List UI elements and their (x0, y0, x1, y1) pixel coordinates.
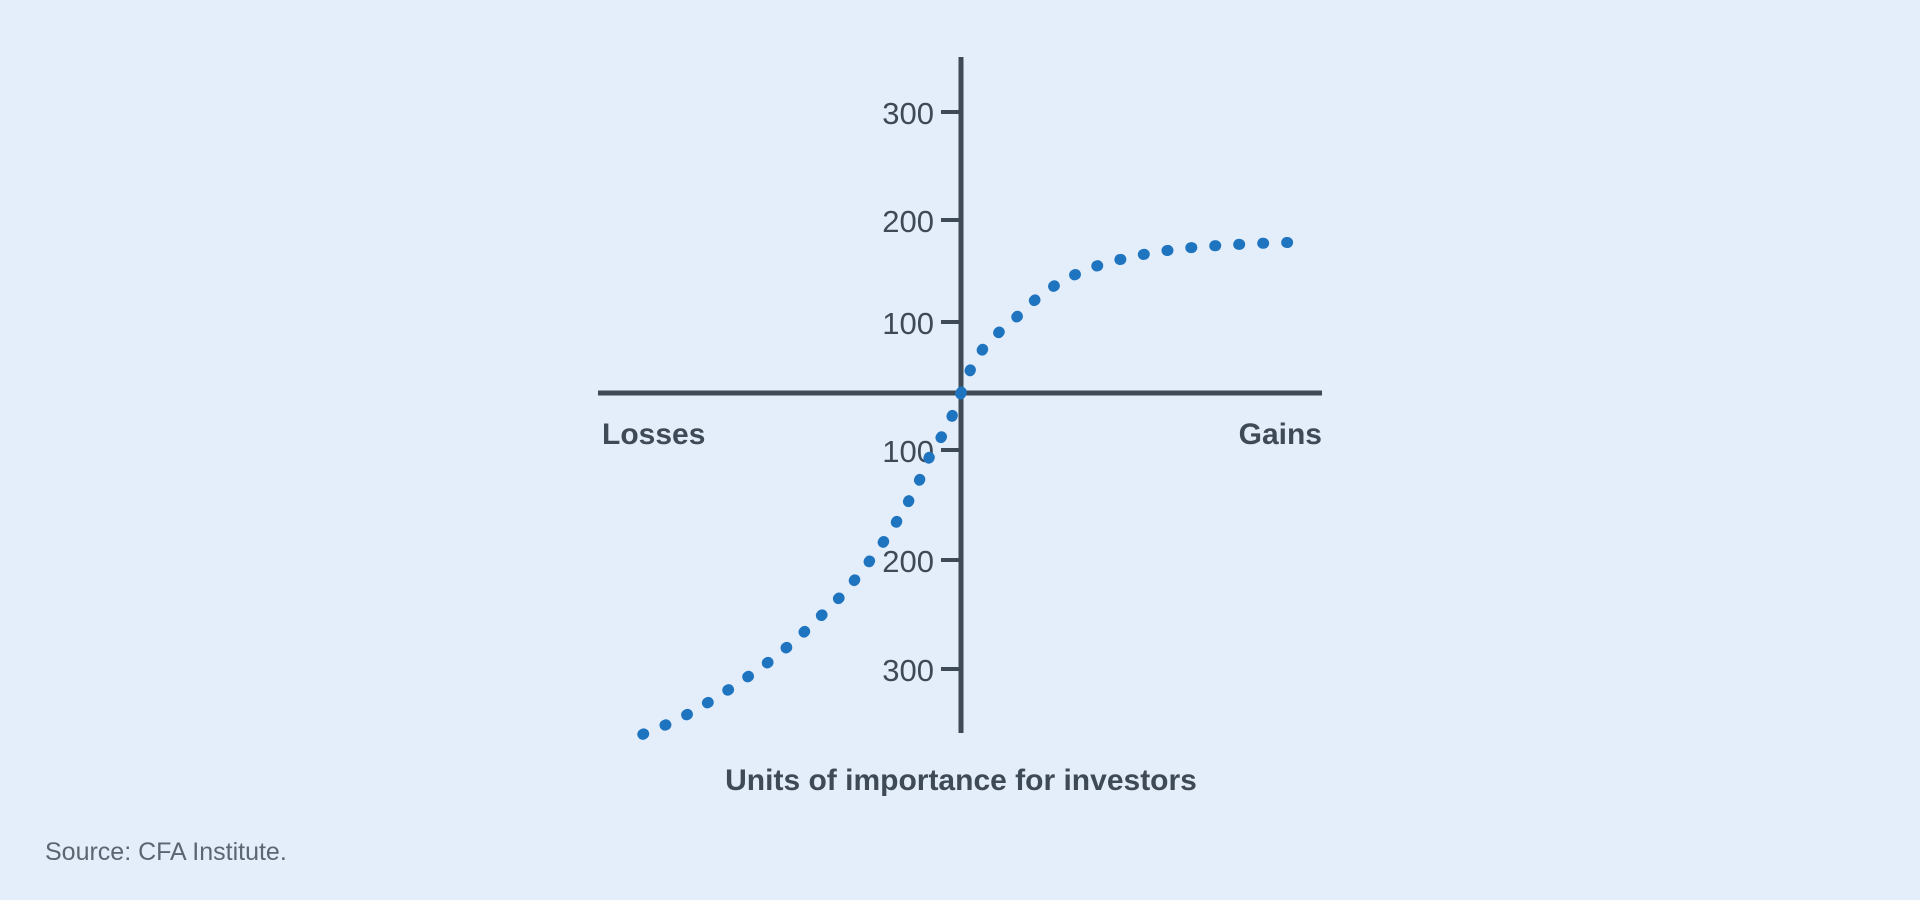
gains-axis-label: Gains (1239, 418, 1322, 451)
figure-container: 300 200 100 100 200 300 Losses Gains Uni… (0, 0, 1920, 900)
source-note: Source: CFA Institute. (45, 838, 287, 867)
curve-gains-segment (961, 242, 1289, 393)
value-function-chart: 300 200 100 100 200 300 Losses Gains Uni… (0, 0, 1920, 900)
ytick-label-200-positive: 200 (882, 204, 934, 239)
ytick-label-300-positive: 300 (882, 96, 934, 131)
ytick-label-300-negative: 300 (882, 653, 934, 688)
chart-caption: Units of importance for investors (725, 764, 1197, 797)
losses-axis-label: Losses (602, 418, 705, 451)
ytick-label-100-positive: 100 (882, 306, 934, 341)
ytick-label-200-negative: 200 (882, 544, 934, 579)
ytick-label-100-negative: 100 (882, 434, 934, 469)
